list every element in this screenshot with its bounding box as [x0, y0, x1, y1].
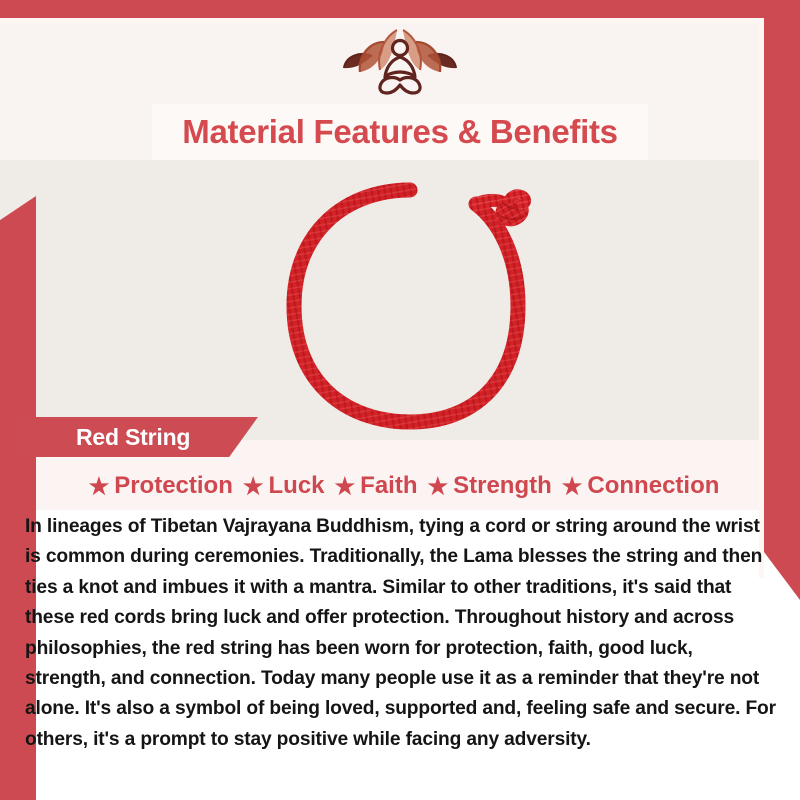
- star-icon: ★: [427, 475, 448, 498]
- benefit-label: Protection: [114, 472, 233, 500]
- benefit-item: ★ Faith: [327, 472, 418, 500]
- benefit-label: Strength: [453, 472, 552, 500]
- benefit-label: Connection: [587, 472, 719, 500]
- benefit-item: ★ Strength: [419, 472, 551, 500]
- page-title: Material Features & Benefits: [182, 113, 617, 151]
- benefit-item: ★ Protection: [81, 472, 233, 500]
- benefits-row: ★ Protection ★ Luck ★ Faith ★ Strength ★…: [0, 466, 800, 506]
- benefit-item: ★ Luck: [235, 472, 325, 500]
- benefit-label: Luck: [269, 472, 325, 500]
- body-paragraph: In lineages of Tibetan Vajrayana Buddhis…: [25, 512, 777, 755]
- star-icon: ★: [335, 475, 356, 498]
- lotus-meditation-icon: [0, 22, 800, 100]
- benefit-item: ★ Connection: [554, 472, 720, 500]
- star-icon: ★: [243, 475, 264, 498]
- star-icon: ★: [89, 475, 110, 498]
- benefit-label: Faith: [360, 472, 417, 500]
- star-icon: ★: [562, 475, 583, 498]
- section-title: Red String: [76, 424, 190, 451]
- frame-top-bar: [0, 0, 800, 18]
- section-ribbon: Red String: [18, 417, 258, 457]
- infographic-page: BUDDHA STONES Material Features & Benefi…: [0, 0, 800, 800]
- title-banner: Material Features & Benefits: [152, 104, 648, 160]
- product-image: [250, 160, 570, 450]
